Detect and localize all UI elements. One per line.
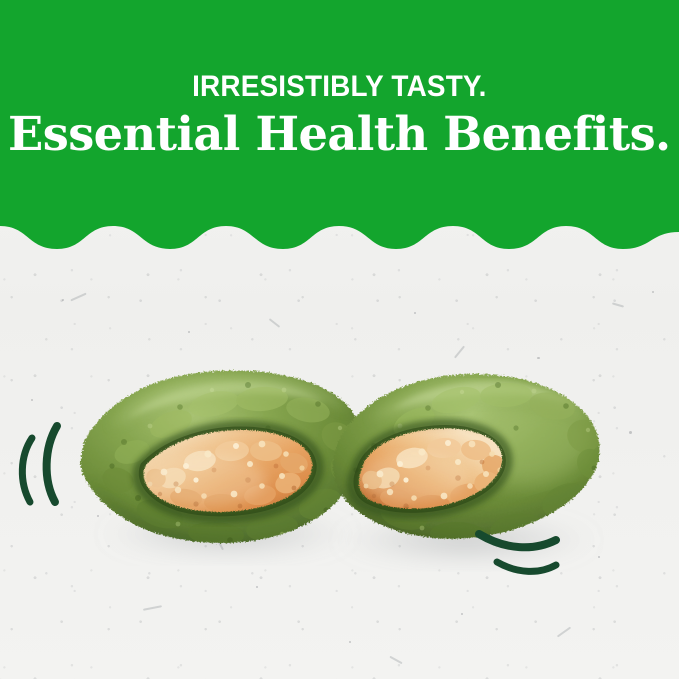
- motion-arc-left-inner: [47, 426, 57, 502]
- promo-banner-canvas: IRRESISTIBLY TASTY. Essential Health Ben…: [0, 0, 679, 679]
- motion-arc-br-lower: [497, 562, 556, 571]
- eyebrow-text: IRRESISTIBLY TASTY.: [192, 72, 486, 102]
- motion-arc-left-outer: [22, 438, 32, 502]
- headline-block: IRRESISTIBLY TASTY. Essential Health Ben…: [0, 0, 679, 222]
- product-photo: [0, 252, 679, 679]
- motion-accent-left: [22, 426, 57, 502]
- right-treat-half: [333, 374, 613, 547]
- page-title: Essential Health Benefits.: [8, 111, 671, 158]
